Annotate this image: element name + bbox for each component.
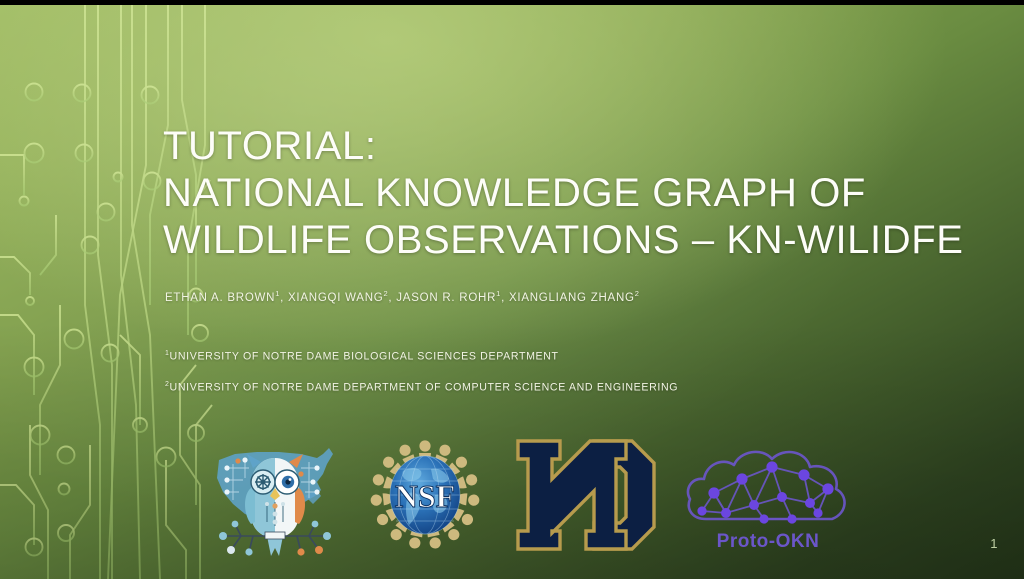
author-name-4: XIANGLIANG ZHANG [509, 292, 635, 304]
affiliation-1: 1UNIVERSITY OF NOTRE DAME BIOLOGICAL SCI… [165, 340, 678, 371]
title-line-2: NATIONAL KNOWLEDGE GRAPH OF [163, 170, 973, 217]
affiliation-text-1: UNIVERSITY OF NOTRE DAME BIOLOGICAL SCIE… [170, 351, 559, 363]
nsf-seal-icon: NSF [365, 437, 485, 553]
title-line-3: WILDLIFE OBSERVATIONS – KN-WILIDFE [163, 217, 973, 264]
proto-okn-cloud-network-icon: Proto-OKN [680, 435, 855, 555]
affiliation-text-2: UNIVERSITY OF NOTRE DAME DEPARTMENT OF C… [170, 381, 679, 393]
author-superscript-4: 2 [635, 289, 640, 298]
author-name-1: ETHAN A. BROWN [165, 292, 275, 304]
proto-okn-logo: Proto-OKN [675, 433, 860, 558]
slide-number: 1 [990, 536, 998, 551]
title-line-1: TUTORIAL: [163, 123, 973, 170]
author-list: ETHAN A. BROWN1, XIANGQI WANG2, JASON R.… [165, 289, 640, 304]
author-name-2: XIANGQI WANG [288, 292, 383, 304]
author-superscript-2: 2 [383, 289, 388, 298]
nsf-wordmark: NSF [395, 478, 455, 514]
proto-okn-wordmark: Proto-OKN [717, 531, 820, 552]
logo-row: NSF [200, 425, 860, 565]
affiliation-list: 1UNIVERSITY OF NOTRE DAME BIOLOGICAL SCI… [165, 340, 678, 401]
nsf-logo: NSF [350, 435, 500, 555]
owl-usa-icon [205, 430, 345, 560]
owl-usa-logo [200, 428, 350, 563]
author-superscript-3: 1 [496, 289, 501, 298]
notre-dame-nd-monogram-icon [508, 433, 668, 557]
affiliation-2: 2UNIVERSITY OF NOTRE DAME DEPARTMENT OF … [165, 371, 678, 402]
slide-canvas: TUTORIAL: NATIONAL KNOWLEDGE GRAPH OF WI… [0, 5, 1024, 579]
notre-dame-logo [500, 430, 675, 560]
author-name-3: JASON R. ROHR [396, 292, 496, 304]
letterbox-top-bar [0, 0, 1024, 5]
slide-title-block: TUTORIAL: NATIONAL KNOWLEDGE GRAPH OF WI… [163, 123, 973, 264]
author-superscript-1: 1 [275, 289, 280, 298]
presentation-slide: TUTORIAL: NATIONAL KNOWLEDGE GRAPH OF WI… [0, 0, 1024, 579]
